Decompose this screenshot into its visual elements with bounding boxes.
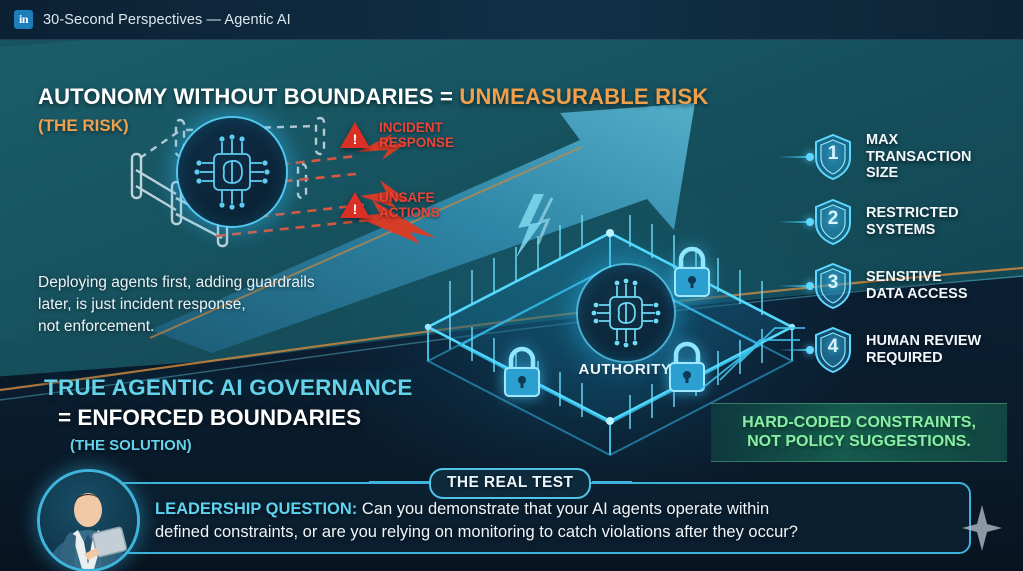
shield-icon: 1 xyxy=(813,133,853,181)
risk-body-text: Deploying agents first, adding guardrail… xyxy=(38,272,315,338)
risk-headline: AUTONOMY WITHOUT BOUNDARIES = UNMEASURAB… xyxy=(38,84,708,110)
connector-line xyxy=(779,285,811,287)
warning-triangle-icon xyxy=(340,192,370,218)
linkedin-icon[interactable]: in xyxy=(14,10,33,29)
hard-coded-constraints-banner: HARD-CODED CONSTRAINTS, NOT POLICY SUGGE… xyxy=(711,403,1007,462)
solution-subtitle: (THE SOLUTION) xyxy=(44,437,413,454)
shield-item-2[interactable]: 2 RESTRICTED SYSTEMS xyxy=(779,198,1009,246)
warning-unsafe-actions: UNSAFE ACTIONS xyxy=(340,190,440,220)
solution-headline-block: TRUE AGENTIC AI GOVERNANCE = ENFORCED BO… xyxy=(44,375,413,454)
tab-connector-left xyxy=(369,481,431,483)
constraint-shield-list: 1 MAX TRANSACTION SIZE 2 RESTRICTED SYST… xyxy=(779,132,1009,390)
page-title: 30-Second Perspectives — Agentic AI xyxy=(43,12,291,28)
business-person-icon xyxy=(40,472,137,569)
shield-number: 2 xyxy=(813,198,853,246)
shield-label: RESTRICTED SYSTEMS xyxy=(866,205,959,238)
shield-item-3[interactable]: 3 SENSITIVE DATA ACCESS xyxy=(779,262,1009,310)
risk-headline-orange: UNMEASURABLE RISK xyxy=(459,84,708,109)
connector-line xyxy=(779,221,811,223)
risk-headline-white: AUTONOMY WITHOUT BOUNDARIES = xyxy=(38,84,453,109)
banner-line2: NOT POLICY SUGGESTIONS. xyxy=(721,432,997,451)
shield-label: MAX TRANSACTION SIZE xyxy=(866,132,972,182)
real-test-tab[interactable]: THE REAL TEST xyxy=(429,468,591,499)
shield-item-4[interactable]: 4 HUMAN REVIEW REQUIRED xyxy=(779,326,1009,374)
solution-headline-line1: TRUE AGENTIC AI GOVERNANCE xyxy=(44,375,413,401)
shield-number: 4 xyxy=(813,326,853,374)
shield-icon: 2 xyxy=(813,198,853,246)
question-line2: defined constraints, or are you relying … xyxy=(155,521,955,544)
risk-subtitle: (THE RISK) xyxy=(38,116,708,136)
risk-headline-block: AUTONOMY WITHOUT BOUNDARIES = UNMEASURAB… xyxy=(38,84,708,136)
connector-line xyxy=(779,156,811,158)
question-line1: LEADERSHIP QUESTION: Can you demonstrate… xyxy=(155,498,955,521)
shield-label: HUMAN REVIEW REQUIRED xyxy=(866,333,981,366)
infographic-canvas: in 30-Second Perspectives — Agentic AI A… xyxy=(0,0,1023,571)
banner-line1: HARD-CODED CONSTRAINTS, xyxy=(721,413,997,432)
question-lead-label: LEADERSHIP QUESTION: xyxy=(155,500,357,518)
solution-headline-line2: = ENFORCED BOUNDARIES xyxy=(44,405,413,431)
shield-number: 1 xyxy=(813,133,853,181)
connector-line xyxy=(779,349,811,351)
sparkle-icon xyxy=(962,505,1002,551)
app-header: in 30-Second Perspectives — Agentic AI xyxy=(0,0,1023,40)
shield-icon: 4 xyxy=(813,326,853,374)
shield-label: SENSITIVE DATA ACCESS xyxy=(866,269,968,302)
warning-label: UNSAFE ACTIONS xyxy=(379,190,440,220)
shield-item-1[interactable]: 1 MAX TRANSACTION SIZE xyxy=(779,132,1009,182)
shield-number: 3 xyxy=(813,262,853,310)
tab-connector-right xyxy=(592,481,632,483)
shield-icon: 3 xyxy=(813,262,853,310)
padlock-icon xyxy=(498,343,546,401)
executive-avatar xyxy=(40,472,137,569)
leadership-question-text: LEADERSHIP QUESTION: Can you demonstrate… xyxy=(155,498,955,545)
